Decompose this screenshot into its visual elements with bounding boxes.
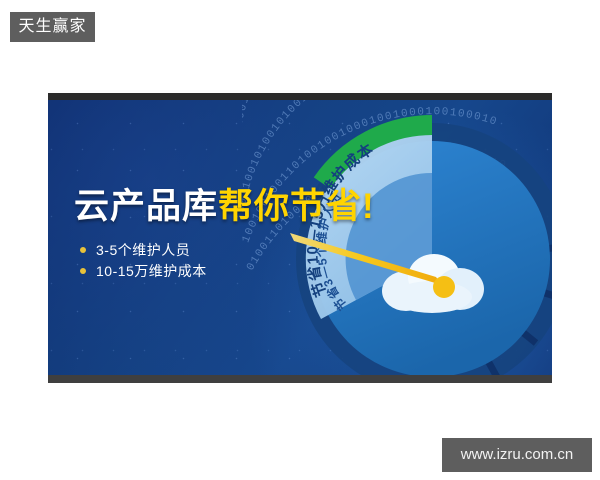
banner-copy: 云产品库帮你节省! 3-5个维护人员 10-15万维护成本: [74, 189, 375, 283]
bullet-text: 3-5个维护人员: [96, 242, 190, 258]
bullet-dot-icon: [80, 247, 86, 253]
banner-headline: 云产品库帮你节省!: [74, 189, 375, 226]
headline-yellow-part: 帮你节省!: [218, 187, 375, 226]
promo-banner: 0100110100101000100010010001001000010 10…: [48, 93, 552, 383]
bullet-text: 10-15万维护成本: [96, 263, 207, 279]
site-badge: 天生赢家: [10, 12, 95, 42]
headline-white-part: 云产品库: [74, 187, 218, 226]
site-url-watermark: www.izru.com.cn: [442, 438, 592, 472]
banner-top-bar: [48, 93, 552, 100]
list-item: 3-5个维护人员: [80, 240, 375, 262]
list-item: 10-15万维护成本: [80, 261, 375, 283]
banner-bullet-list: 3-5个维护人员 10-15万维护成本: [80, 240, 375, 283]
banner-bottom-bar: [48, 375, 552, 383]
bullet-dot-icon: [80, 268, 86, 274]
